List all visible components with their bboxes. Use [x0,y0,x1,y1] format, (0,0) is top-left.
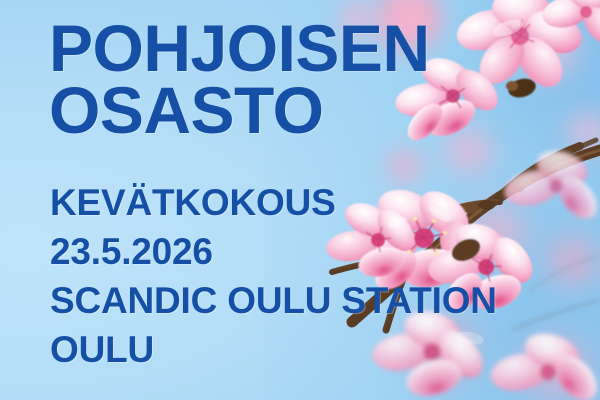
event-name: KEVÄTKOKOUS [50,178,497,227]
event-details: KEVÄTKOKOUS 23.5.2026 SCANDIC OULU STATI… [50,178,497,374]
title-line-2: OSASTO [49,79,430,141]
event-city: OULU [50,325,497,374]
poster: POHJOISEN OSASTO KEVÄTKOKOUS 23.5.2026 S… [0,0,600,400]
event-date: 23.5.2026 [50,227,497,276]
page-title: POHJOISEN OSASTO [49,17,430,141]
title-line-1: POHJOISEN [49,17,430,79]
text-layer: POHJOISEN OSASTO KEVÄTKOKOUS 23.5.2026 S… [0,0,600,400]
event-venue: SCANDIC OULU STATION [50,276,497,325]
